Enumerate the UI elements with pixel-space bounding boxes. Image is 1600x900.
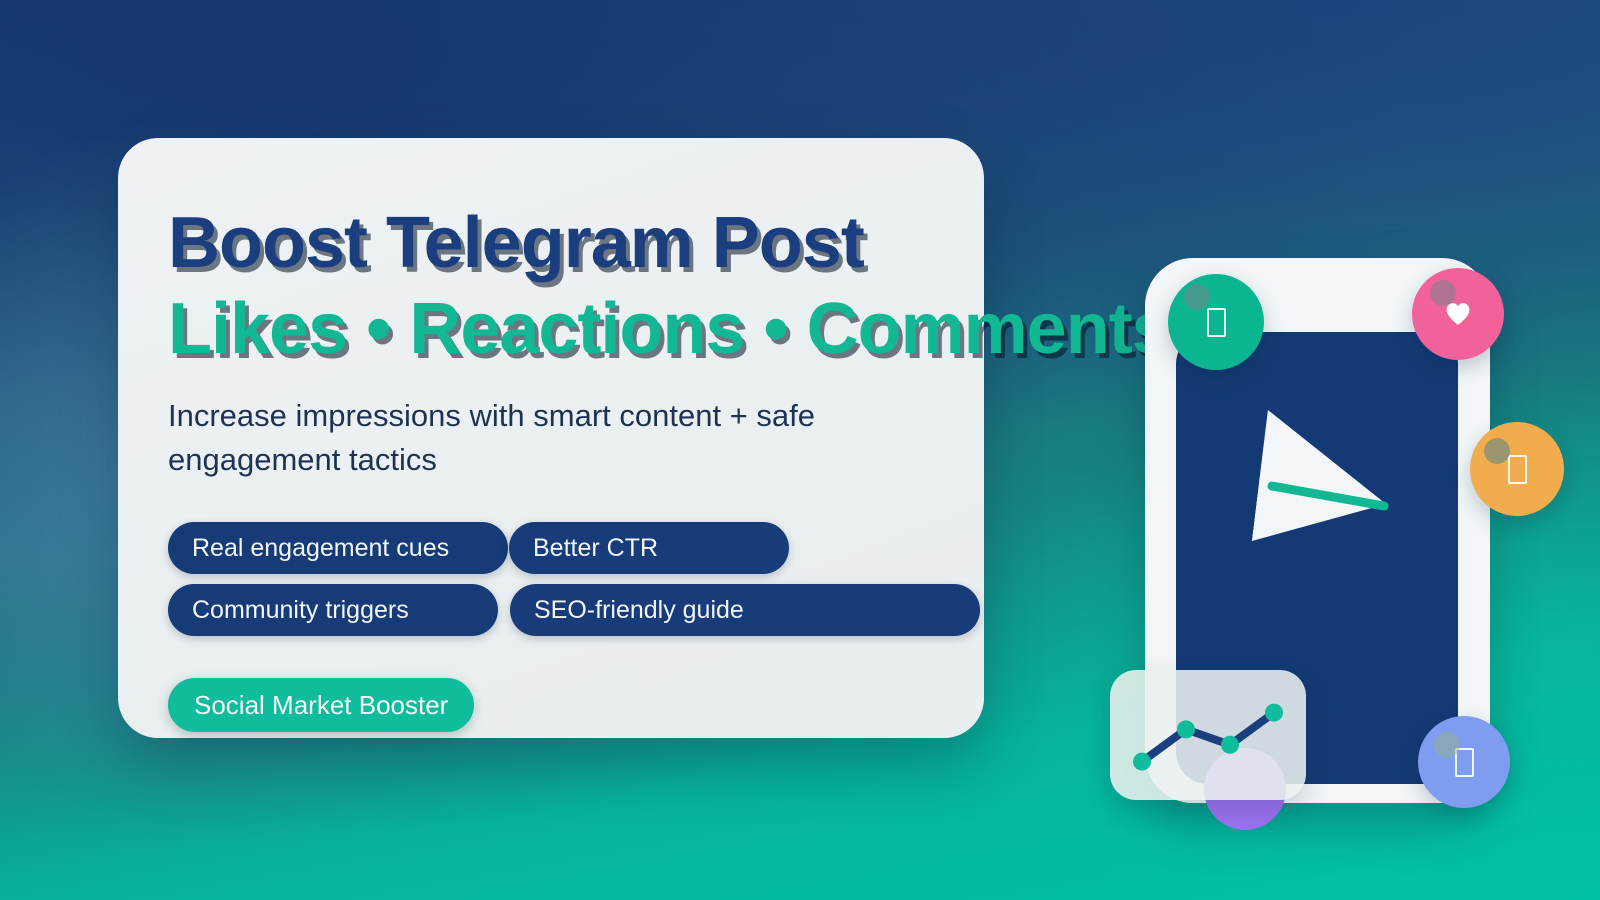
chart-point (1221, 736, 1239, 754)
mini-analytics-card (1110, 670, 1306, 800)
phone-illustration (1110, 250, 1530, 810)
hero-subtitle: Increase impressions with smart content … (168, 394, 978, 482)
feature-pill-real-engagement-cues[interactable]: Real engagement cues (168, 522, 508, 574)
bubble-highlight-dot (1184, 284, 1210, 310)
feature-pill-group: Real engagement cues Better CTR Communit… (168, 522, 1168, 636)
feature-pill-seo-friendly-guide[interactable]: SEO-friendly guide (510, 584, 980, 636)
feature-pill-row: Real engagement cues Better CTR (168, 522, 1168, 574)
send-icon (1207, 308, 1226, 337)
chart-point (1177, 720, 1195, 738)
bubble-highlight-dot (1434, 732, 1460, 758)
chart-line (1142, 713, 1274, 762)
comment-bubble[interactable] (1418, 716, 1510, 808)
star-icon (1508, 455, 1527, 484)
headline-line-2: Likes • Reactions • Comments (168, 286, 1168, 372)
brand-badge[interactable]: Social Market Booster (168, 678, 474, 732)
feature-pill-better-ctr[interactable]: Better CTR (509, 522, 789, 574)
chart-point (1133, 753, 1151, 771)
headline-line-1: Boost Telegram Post (168, 200, 1168, 286)
hero-card-content: Boost Telegram Post Likes • Reactions • … (168, 200, 1168, 732)
paper-plane-icon (1250, 400, 1390, 545)
bubble-highlight-dot (1430, 280, 1456, 306)
heart-bubble[interactable] (1412, 268, 1504, 360)
feature-pill-community-triggers[interactable]: Community triggers (168, 584, 498, 636)
star-bubble[interactable] (1470, 422, 1564, 516)
bubble-highlight-dot (1484, 438, 1510, 464)
send-bubble[interactable] (1168, 274, 1264, 370)
feature-pill-row: Community triggers SEO-friendly guide (168, 584, 1168, 636)
heart-icon (1445, 302, 1471, 326)
engagement-line-chart (1110, 670, 1306, 800)
chart-point (1265, 704, 1283, 722)
